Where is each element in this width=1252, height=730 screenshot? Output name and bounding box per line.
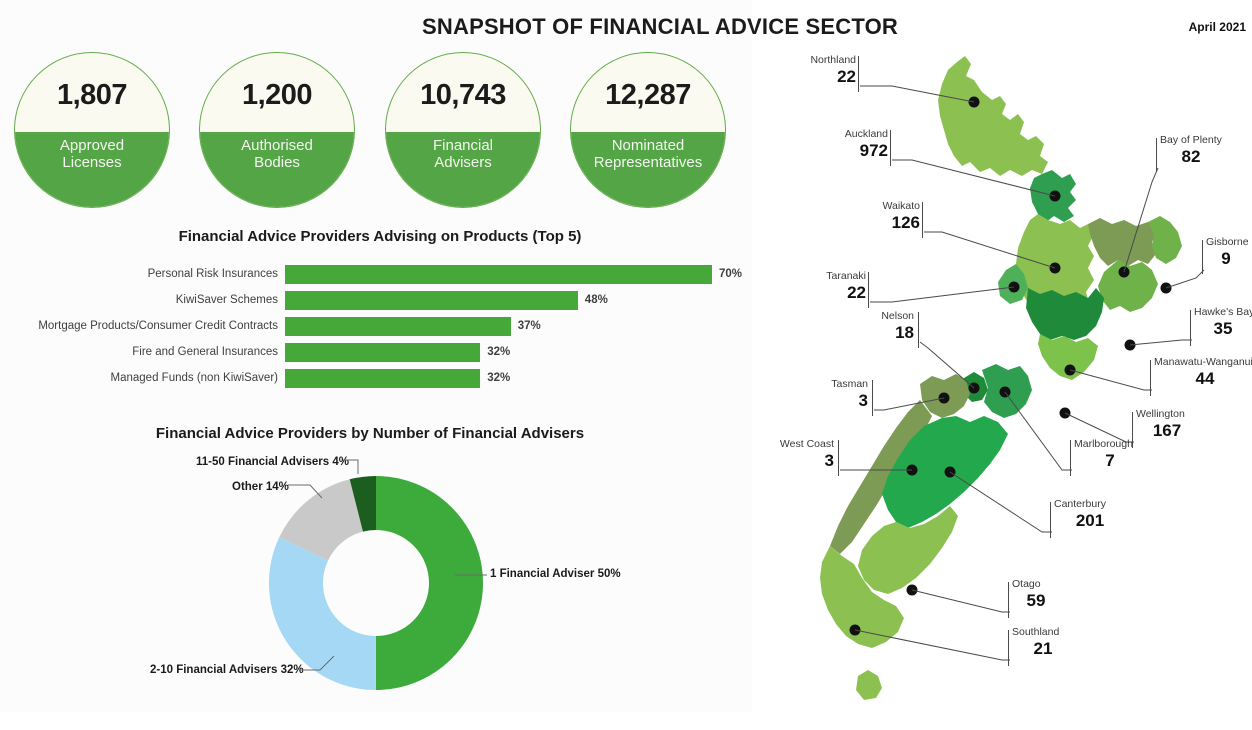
bar-category-label: Managed Funds (non KiwiSaver)	[0, 372, 278, 384]
stat-label-line2: Licenses	[15, 154, 169, 171]
map-label-wellington: Wellington 167	[1136, 408, 1216, 441]
map-region-value: 126	[836, 213, 920, 233]
bar-row: Mortgage Products/Consumer Credit Contra…	[0, 317, 752, 337]
map-tick-marlborough	[1070, 440, 1071, 476]
region-manawatu-wanganui	[1026, 288, 1104, 340]
donut-label-2-10-advisers: 2-10 Financial Advisers 32%	[150, 664, 304, 676]
donut-svg	[268, 475, 484, 691]
bar-value-label: 70%	[719, 268, 742, 280]
map-region-value: 972	[804, 141, 888, 161]
donut-chart-title: Financial Advice Providers by Number of …	[10, 425, 730, 442]
bar-fill	[285, 265, 712, 284]
stat-label-line1: Approved	[15, 137, 169, 154]
stat-circle-authorised-bodies: 1,200 Authorised Bodies	[199, 52, 355, 208]
stat-label: Authorised Bodies	[200, 137, 354, 171]
map-tick-bay-of-plenty	[1156, 138, 1157, 172]
map-tick-canterbury	[1050, 502, 1051, 538]
map-region-name: Wellington	[1136, 408, 1216, 420]
bar-value-label: 32%	[487, 372, 510, 384]
map-region-name: Bay of Plenty	[1160, 134, 1252, 146]
map-tick-southland	[1008, 630, 1009, 666]
donut-label-1-adviser: 1 Financial Adviser 50%	[490, 568, 621, 580]
map-tick-gisborne	[1202, 240, 1203, 274]
map-region-value: 82	[1160, 147, 1222, 167]
map-tick-northland	[858, 56, 859, 92]
bar-chart-plot: Personal Risk Insurances70%KiwiSaver Sch…	[0, 265, 752, 395]
map-region-name: Hawke's Bay	[1194, 306, 1252, 318]
map-region-value: 22	[772, 67, 856, 87]
stat-value: 10,743	[386, 79, 540, 112]
stat-value: 1,807	[15, 79, 169, 112]
map-label-auckland: Auckland 972	[804, 128, 888, 161]
map-tick-tasman	[872, 380, 873, 416]
stat-value: 1,200	[200, 79, 354, 112]
infographic-root: SNAPSHOT OF FINANCIAL ADVICE SECTOR Apri…	[0, 0, 1252, 730]
stat-circle-nominated-representatives: 12,287 Nominated Representatives	[570, 52, 726, 208]
map-region-value: 3	[754, 451, 834, 471]
map-label-nelson: Nelson 18	[844, 310, 914, 343]
bar-category-label: Mortgage Products/Consumer Credit Contra…	[0, 320, 278, 332]
bar-row: Personal Risk Insurances70%	[0, 265, 752, 285]
donut-label-other: Other 14%	[232, 481, 289, 493]
bar-category-label: Personal Risk Insurances	[0, 268, 278, 280]
bar-fill	[285, 317, 511, 336]
bar-row: Managed Funds (non KiwiSaver)32%	[0, 369, 752, 389]
map-region-value: 9	[1206, 249, 1246, 269]
map-label-northland: Northland 22	[772, 54, 856, 87]
map-label-otago: Otago 59	[1012, 578, 1074, 611]
map-tick-nelson	[918, 312, 919, 348]
stat-label-line2: Advisers	[386, 154, 540, 171]
stat-label: Nominated Representatives	[571, 137, 725, 171]
map-region-value: 35	[1194, 319, 1252, 339]
stat-circle-financial-advisers: 10,743 Financial Advisers	[385, 52, 541, 208]
map-region-value: 44	[1154, 369, 1252, 389]
map-region-value: 18	[844, 323, 914, 343]
stat-circles-group: 1,807 Approved Licenses 1,200 Authorised…	[0, 52, 752, 214]
stat-label-line1: Authorised	[200, 137, 354, 154]
map-region-value: 22	[782, 283, 866, 303]
region-hawkes-bay	[1098, 260, 1158, 312]
region-stewart-island	[856, 670, 882, 700]
map-region-name: Tasman	[798, 378, 868, 390]
stat-label: Financial Advisers	[386, 137, 540, 171]
map-region-value: 21	[1012, 639, 1074, 659]
bar-category-label: KiwiSaver Schemes	[0, 294, 278, 306]
map-region-name: Northland	[772, 54, 856, 66]
map-region-name: Waikato	[836, 200, 920, 212]
map-label-taranaki: Taranaki 22	[782, 270, 866, 303]
new-zealand-map: Northland 22 Auckland 972 Waikato 126 Ba…	[752, 40, 1252, 730]
map-tick-hawkes-bay	[1190, 310, 1191, 346]
map-label-manawatu-wanganui: Manawatu-Wanganui 44	[1154, 356, 1252, 389]
map-label-southland: Southland 21	[1012, 626, 1088, 659]
bar-row: Fire and General Insurances32%	[0, 343, 752, 363]
date-stamp: April 2021	[1160, 20, 1246, 34]
bar-fill	[285, 291, 578, 310]
donut-chart-plot	[0, 455, 752, 705]
map-label-gisborne: Gisborne 9	[1206, 236, 1252, 269]
stat-label-line1: Nominated	[571, 137, 725, 154]
map-region-name: Taranaki	[782, 270, 866, 282]
stat-value: 12,287	[571, 79, 725, 112]
map-region-value: 3	[798, 391, 868, 411]
map-label-bay-of-plenty: Bay of Plenty 82	[1160, 134, 1252, 167]
region-northland	[938, 56, 1048, 176]
map-label-waikato: Waikato 126	[836, 200, 920, 233]
map-region-value: 201	[1054, 511, 1126, 531]
bar-row: KiwiSaver Schemes48%	[0, 291, 752, 311]
map-label-hawkes-bay: Hawke's Bay 35	[1194, 306, 1252, 339]
bar-category-label: Fire and General Insurances	[0, 346, 278, 358]
map-region-name: Marlborough	[1074, 438, 1160, 450]
map-region-name: Nelson	[844, 310, 914, 322]
map-label-tasman: Tasman 3	[798, 378, 868, 411]
map-label-marlborough: Marlborough 7	[1074, 438, 1160, 471]
map-region-name: Auckland	[804, 128, 888, 140]
map-region-name: Manawatu-Wanganui	[1154, 356, 1252, 368]
stat-label: Approved Licenses	[15, 137, 169, 171]
map-label-canterbury: Canterbury 201	[1054, 498, 1140, 531]
map-tick-waikato	[922, 202, 923, 238]
map-region-name: Gisborne	[1206, 236, 1252, 248]
map-region-name: Southland	[1012, 626, 1088, 638]
bar-fill	[285, 369, 480, 388]
map-region-value: 59	[1012, 591, 1060, 611]
map-region-name: West Coast	[754, 438, 834, 450]
map-tick-otago	[1008, 582, 1009, 618]
bar-chart-title: Financial Advice Providers Advising on P…	[10, 228, 750, 245]
donut-label-11-50-advisers: 11-50 Financial Advisers 4%	[196, 456, 349, 468]
region-bay-of-plenty	[1088, 218, 1158, 266]
stat-circle-approved-licenses: 1,807 Approved Licenses	[14, 52, 170, 208]
bar-fill	[285, 343, 480, 362]
bar-value-label: 37%	[518, 320, 541, 332]
map-region-name: Canterbury	[1054, 498, 1140, 510]
stat-label-line1: Financial	[386, 137, 540, 154]
map-tick-west-coast	[838, 440, 839, 476]
bar-value-label: 48%	[585, 294, 608, 306]
stat-label-line2: Representatives	[571, 154, 725, 171]
page-title: SNAPSHOT OF FINANCIAL ADVICE SECTOR	[400, 14, 920, 40]
map-tick-taranaki	[868, 272, 869, 308]
stat-label-line2: Bodies	[200, 154, 354, 171]
map-label-west-coast: West Coast 3	[754, 438, 834, 471]
map-region-name: Otago	[1012, 578, 1074, 590]
bar-value-label: 32%	[487, 346, 510, 358]
map-region-value: 7	[1074, 451, 1146, 471]
map-tick-auckland	[890, 130, 891, 166]
map-tick-manawatu	[1150, 360, 1151, 396]
